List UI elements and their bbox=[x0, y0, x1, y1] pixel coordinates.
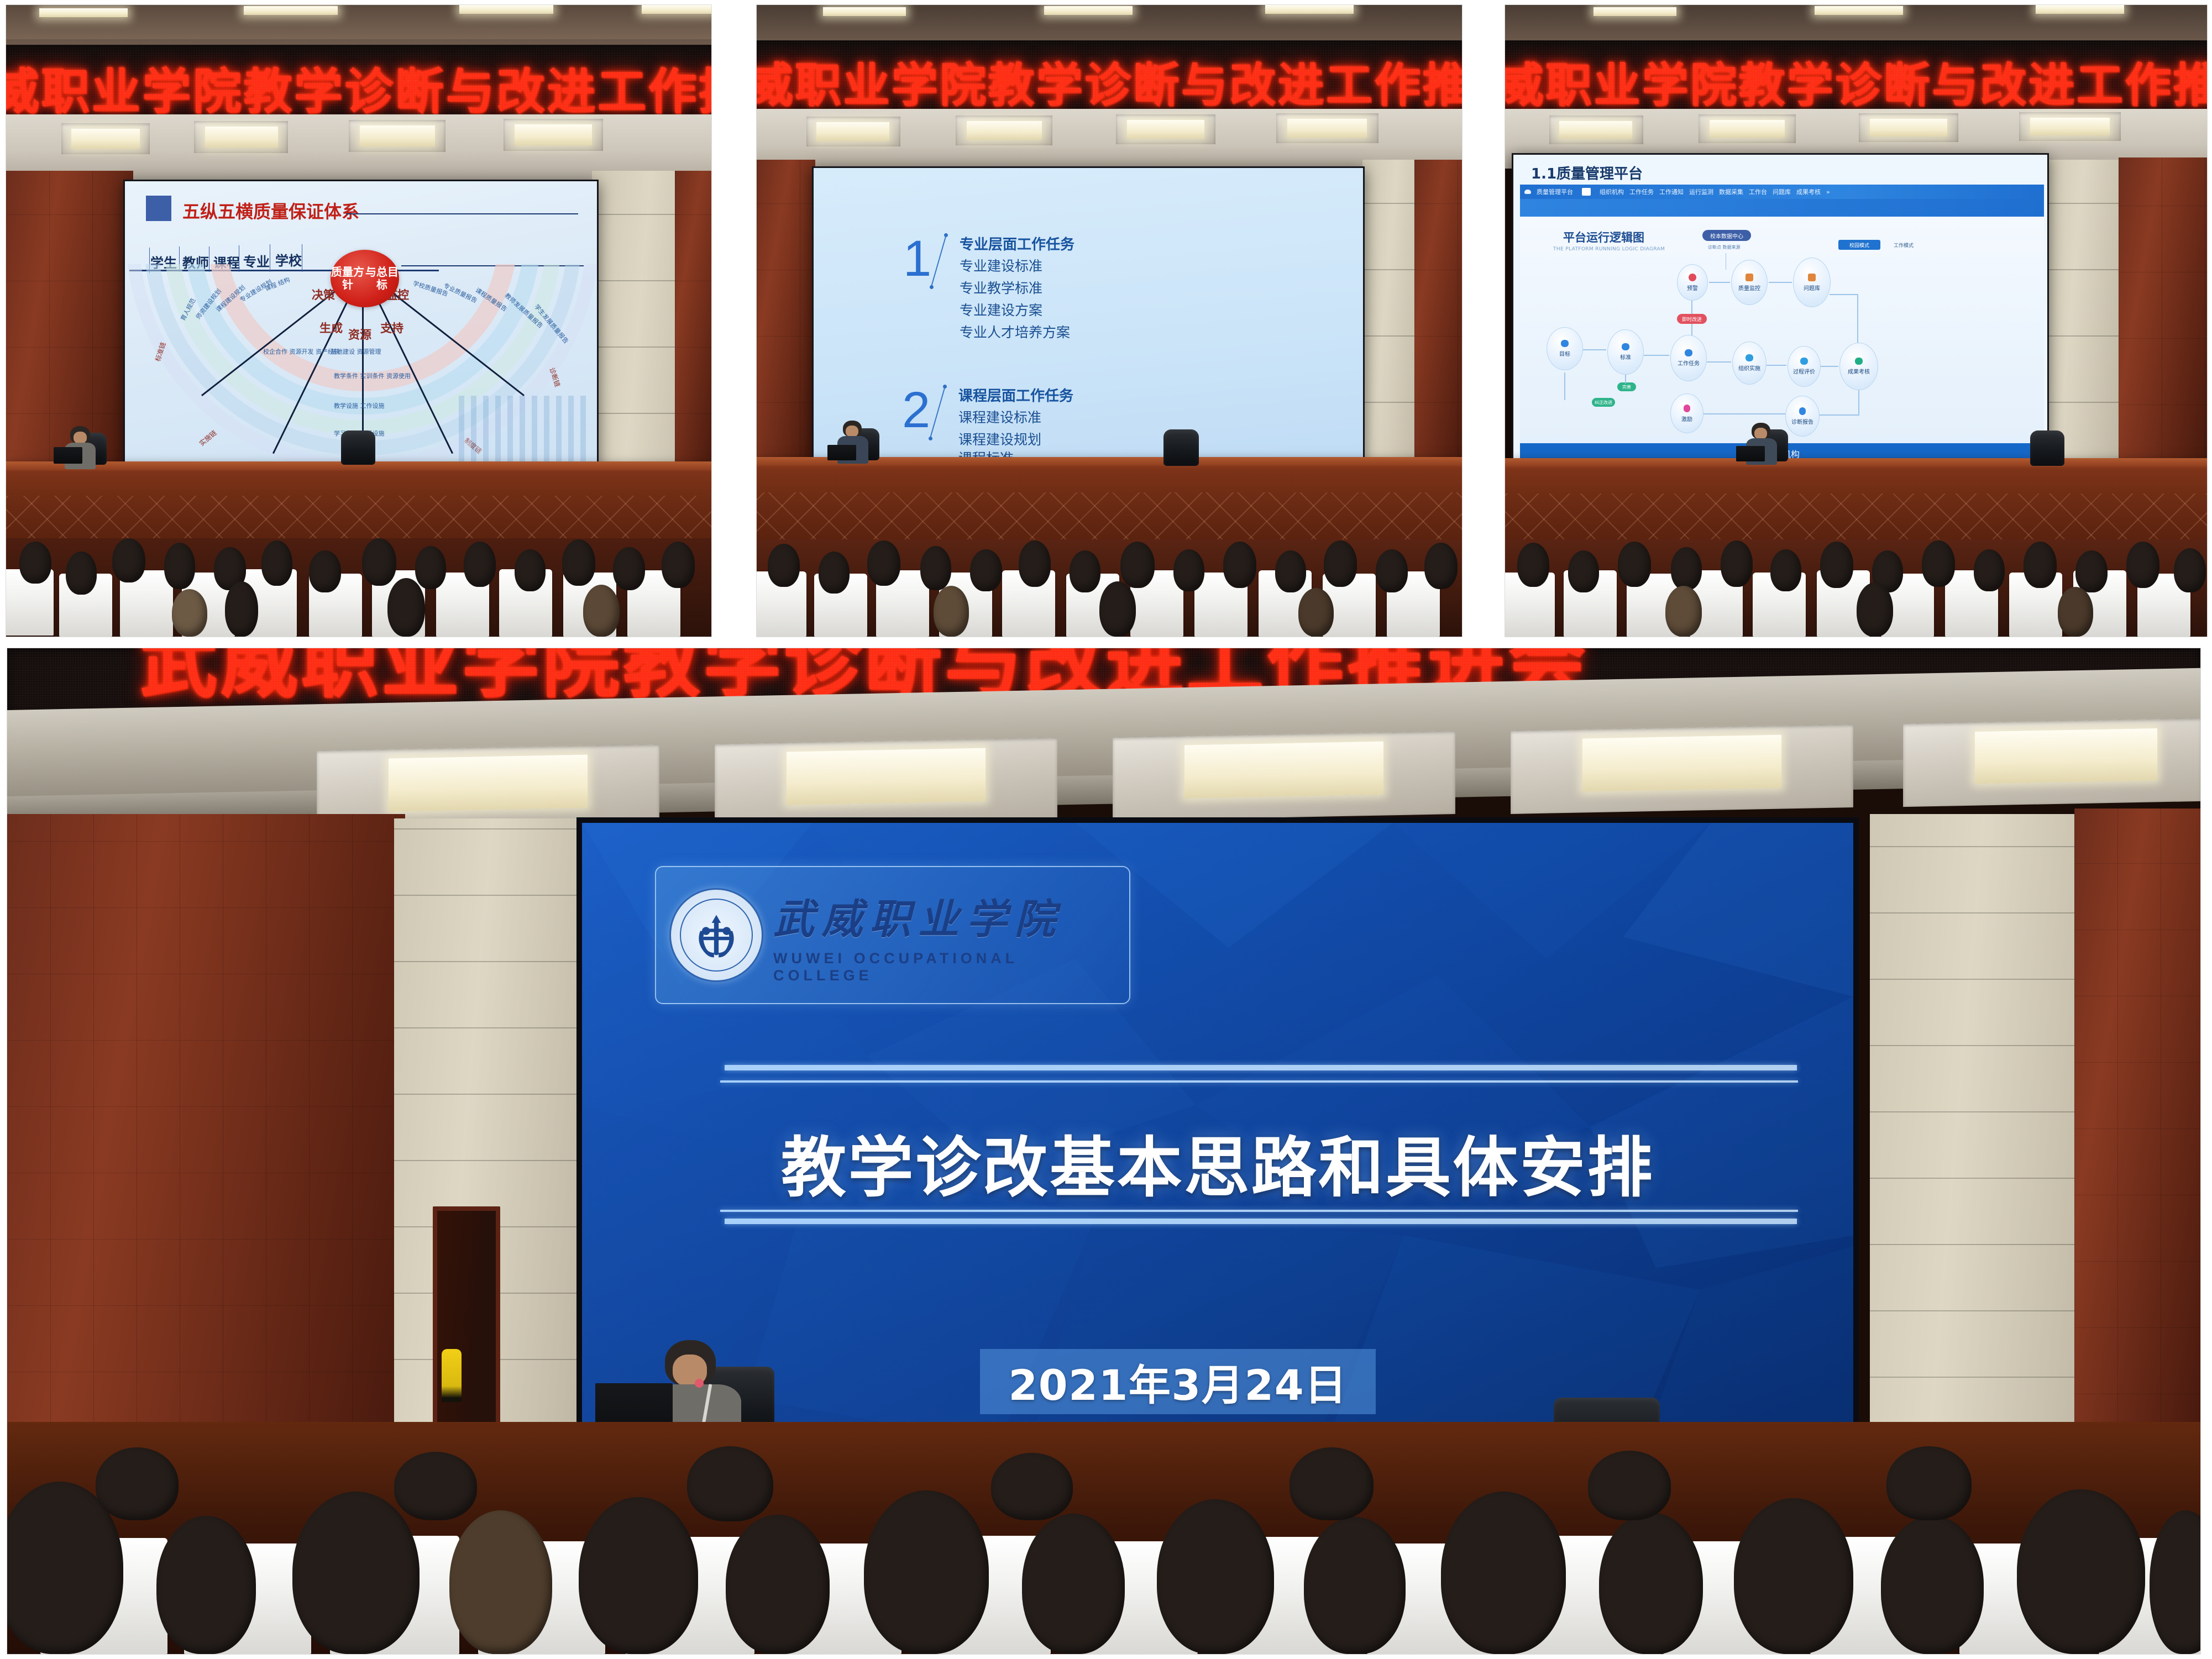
platform-diagram: 平台运行逻辑图 THE PLATFORM RUNNING LOGIC DIAGR… bbox=[1520, 217, 2044, 443]
photo-collage: 武威职业学院教学诊断与改进工作推进会 五纵五横质量保证体系 学生 教师 课程 专… bbox=[0, 0, 2212, 1659]
group-item-1-1: 专业教学标准 bbox=[960, 277, 1042, 297]
sector-resource: 资源 bbox=[348, 326, 371, 343]
group-item-1-0: 专业建设标准 bbox=[960, 255, 1042, 275]
laptop-p2 bbox=[827, 445, 856, 460]
quality-policy-core: 质量方针 与总目标 bbox=[331, 250, 399, 307]
node-goal: 目标 bbox=[1547, 327, 1583, 370]
side-door-p4[interactable] bbox=[433, 1206, 500, 1439]
menu-item-7[interactable]: 成果考核 bbox=[1796, 187, 1821, 196]
node-implement-label: 组织实施 bbox=[1738, 364, 1760, 372]
seal-tree-icon bbox=[688, 908, 745, 965]
laptop-p3 bbox=[1736, 446, 1765, 461]
led-banner-text-p1: 武威职业学院教学诊断与改进工作推进会 bbox=[6, 53, 712, 119]
main-slide-title: 教学诊改基本思路和具体安排 bbox=[582, 1115, 1853, 1209]
projection-screen-p2: 1 专业层面工作任务 专业建设标准 专业教学标准 专业建设方案 专业人才培养方案… bbox=[812, 166, 1365, 463]
stage-chair-p2 bbox=[1163, 429, 1199, 466]
stage-chair-p3 bbox=[2030, 431, 2064, 466]
projection-screen-p1: 五纵五横质量保证体系 学生 教师 课程 专业 学校 bbox=[123, 180, 599, 469]
task-icon bbox=[1685, 349, 1692, 356]
group-item-2-0: 课程建设标准 bbox=[958, 407, 1041, 427]
platform-brand: 质量管理平台 bbox=[1537, 187, 1573, 196]
incentive-icon bbox=[1684, 405, 1690, 412]
ring-label-c1: 基地建设 资源管理 bbox=[331, 347, 381, 356]
node-issue-bank: 问题库 bbox=[1793, 258, 1831, 307]
node-result-label: 成果考核 bbox=[1848, 367, 1870, 375]
group-item-2-1: 课程建设规划 bbox=[958, 429, 1041, 449]
node-task-label: 工作任务 bbox=[1678, 359, 1700, 367]
stage-desk-p1 bbox=[6, 461, 712, 544]
ring-label-c0: 校企合作 资源开发 资产经营 bbox=[263, 347, 340, 356]
side-tag-0: 完善 bbox=[1617, 382, 1636, 391]
menu-item-4[interactable]: 数据采集 bbox=[1719, 187, 1743, 196]
stage-desk-p3 bbox=[1505, 458, 2208, 545]
ring-label-c2: 教学条件 实训条件 资源使用 bbox=[334, 371, 411, 380]
photo-panel-1[interactable]: 武威职业学院教学诊断与改进工作推进会 五纵五横质量保证体系 学生 教师 课程 专… bbox=[6, 4, 712, 637]
node-warning-label: 预警 bbox=[1687, 283, 1698, 292]
audience-p3 bbox=[1505, 539, 2207, 637]
led-banner-text-p3: 武威职业学院教学诊断与改进工作推进会 bbox=[1505, 48, 2208, 112]
mic-head-icon bbox=[695, 1379, 704, 1388]
audience-p2 bbox=[757, 539, 1462, 637]
stage-chair-p1 bbox=[341, 431, 375, 465]
menu-item-5[interactable]: 工作台 bbox=[1749, 187, 1767, 196]
sector-generate: 生成 bbox=[319, 319, 343, 336]
implement-icon bbox=[1746, 354, 1753, 361]
node-task: 工作任务 bbox=[1670, 335, 1707, 381]
wall-right-wood-p1 bbox=[675, 171, 712, 480]
slide1-title: 五纵五横质量保证体系 bbox=[182, 198, 359, 223]
menu-item-1[interactable]: 工作任务 bbox=[1629, 187, 1654, 196]
side-tag-1: 纠正改进 bbox=[1592, 398, 1615, 407]
wall-left-p4 bbox=[7, 814, 405, 1505]
title-rule-top-thin bbox=[720, 1080, 1798, 1083]
node-evaluate: 过程评价 bbox=[1788, 346, 1821, 387]
menu-item-6[interactable]: 问题库 bbox=[1773, 187, 1791, 196]
improve-pill: 即时改进 bbox=[1677, 314, 1707, 324]
node-implement: 组织实施 bbox=[1732, 342, 1767, 385]
node-issue-label: 问题库 bbox=[1804, 283, 1820, 292]
diagram-title-cn: 平台运行逻辑图 bbox=[1563, 229, 1644, 245]
platform-app-bar[interactable]: 质量管理平台 组织机构 工作任务 工作通知 运行监测 数据采集 工作台 问题库 … bbox=[1520, 185, 2044, 199]
node-result: 成果考核 bbox=[1839, 343, 1878, 390]
group-number-1: 1 bbox=[903, 233, 931, 284]
led-banner-p2: 武威职业学院教学诊断与改进工作推进会 bbox=[756, 40, 1463, 112]
logo-chinese-name: 武威职业学院 bbox=[773, 886, 1116, 946]
node-warning: 预警 bbox=[1677, 264, 1708, 301]
node-incentive-label: 激励 bbox=[1681, 414, 1692, 423]
photo-panel-3[interactable]: 武威职业学院教学诊断与改进工作推进会 1.1质量管理平台 质量管理平台 组织机构… bbox=[1505, 4, 2208, 637]
evaluate-icon bbox=[1800, 358, 1808, 365]
node-incentive: 激励 bbox=[1670, 393, 1703, 433]
cloud-icon bbox=[1524, 190, 1531, 194]
node-monitor-label: 质量监控 bbox=[1738, 283, 1760, 292]
group-heading-2: 课程层面工作任务 bbox=[958, 385, 1073, 405]
title-rule-bot-thick bbox=[725, 1219, 1797, 1224]
projection-screen-p3: 1.1质量管理平台 质量管理平台 组织机构 工作任务 工作通知 运行监测 数据采… bbox=[1512, 153, 2049, 463]
node-goal-label: 目标 bbox=[1559, 349, 1570, 358]
node-quality-monitor: 质量监控 bbox=[1731, 260, 1768, 305]
core-line2: 与总目标 bbox=[365, 266, 399, 291]
menu-item-2[interactable]: 工作通知 bbox=[1659, 187, 1684, 196]
college-logo-plate: 武威职业学院 WUWEI OCCUPATIONAL COLLEGE bbox=[655, 866, 1130, 1004]
warning-icon bbox=[1689, 274, 1696, 281]
node-evaluate-label: 过程评价 bbox=[1793, 367, 1815, 375]
sector-support: 支持 bbox=[380, 319, 403, 336]
data-center-note: 诊断点 数据来源 bbox=[1708, 244, 1741, 250]
audience-main bbox=[7, 1422, 2200, 1654]
node-standard: 标准 bbox=[1607, 329, 1644, 375]
result-icon bbox=[1855, 358, 1863, 365]
diagram-title-en: THE PLATFORM RUNNING LOGIC DIAGRAM bbox=[1553, 246, 1665, 252]
core-line1: 质量方针 bbox=[331, 266, 365, 291]
report-icon bbox=[1799, 407, 1806, 415]
menu-more-icon[interactable]: » bbox=[1826, 188, 1830, 196]
logo-english-name: WUWEI OCCUPATIONAL COLLEGE bbox=[773, 950, 1116, 984]
group-number-2: 2 bbox=[902, 385, 930, 435]
monitor-icon bbox=[1746, 274, 1753, 281]
group-item-1-2: 专业建设方案 bbox=[960, 300, 1042, 319]
standard-icon bbox=[1622, 343, 1629, 350]
main-slide-date: 2021年3月24日 bbox=[980, 1349, 1376, 1414]
data-center-pill: 校本数据中心 bbox=[1702, 230, 1751, 241]
issue-icon bbox=[1808, 274, 1816, 281]
ring-label-c3: 教学设施 工作设施 bbox=[334, 401, 385, 410]
mode-tab-0[interactable]: 校园模式 bbox=[1838, 240, 1880, 250]
audience-p1 bbox=[6, 538, 711, 637]
group-item-1-3: 专业人才培养方案 bbox=[960, 322, 1070, 342]
group-heading-1: 专业层面工作任务 bbox=[960, 233, 1074, 254]
photo-panel-4-main[interactable]: 武威职业学院教学诊断与改进工作推进会 bbox=[7, 648, 2201, 1655]
node-report-label: 诊断报告 bbox=[1791, 417, 1813, 426]
menu-item-3[interactable]: 运行监测 bbox=[1689, 187, 1713, 196]
title-rule-bot-thin bbox=[720, 1210, 1798, 1212]
menu-item-0[interactable]: 组织机构 bbox=[1600, 187, 1624, 196]
goal-icon bbox=[1561, 340, 1569, 347]
slide3-title: 1.1质量管理平台 bbox=[1531, 162, 1643, 183]
laptop-p1 bbox=[54, 447, 82, 464]
wall-farright-p4 bbox=[2074, 809, 2201, 1461]
photo-panel-2[interactable]: 武威职业学院教学诊断与改进工作推进会 1 专业层面工作任务 专业建设标准 专业教… bbox=[756, 4, 1463, 637]
wall-right-p4 bbox=[1870, 814, 2102, 1444]
mode-tab-1[interactable]: 工作模式 bbox=[1885, 240, 1922, 250]
title-rule-top-thick bbox=[725, 1065, 1797, 1070]
led-banner-text-p2: 武威职业学院教学诊断与改进工作推进会 bbox=[756, 48, 1463, 112]
college-seal-icon bbox=[669, 888, 763, 982]
menu-grid-icon[interactable] bbox=[1582, 188, 1591, 196]
led-banner-p1: 武威职业学院教学诊断与改进工作推进会 bbox=[6, 45, 712, 119]
door-person-yellow bbox=[442, 1349, 462, 1402]
led-banner-p3: 武威职业学院教学诊断与改进工作推进会 bbox=[1505, 40, 2208, 112]
node-standard-label: 标准 bbox=[1620, 353, 1631, 361]
stage-desk-p2 bbox=[757, 457, 1463, 545]
